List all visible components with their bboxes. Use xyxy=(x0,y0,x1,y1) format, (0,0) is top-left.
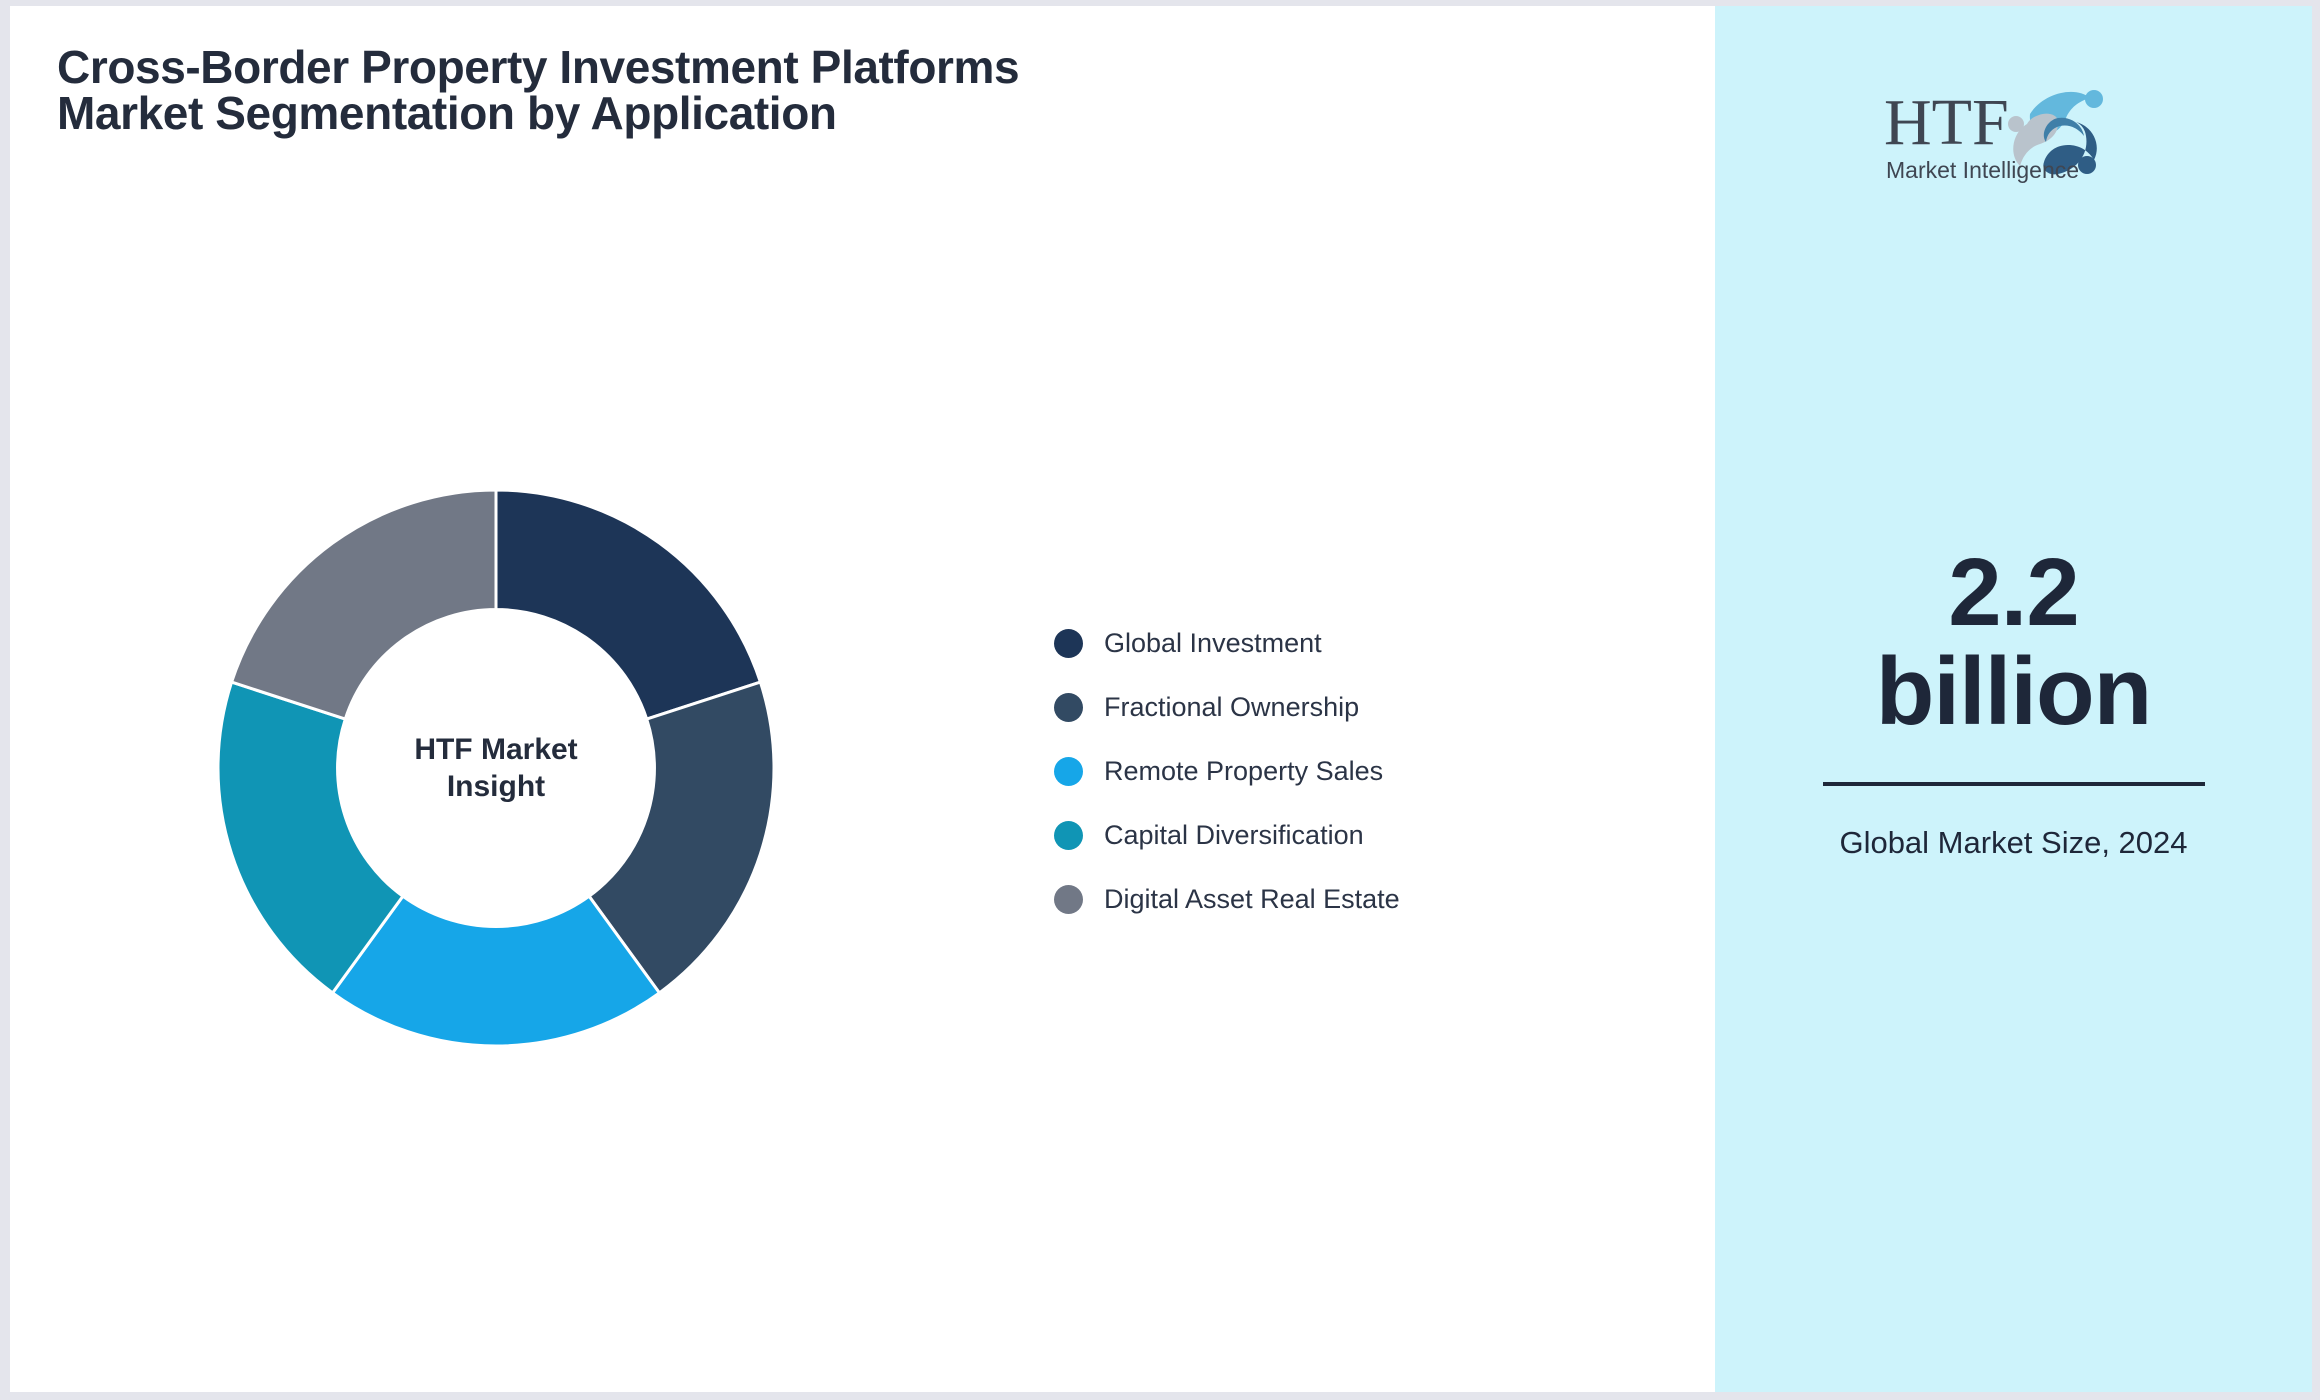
legend-item-label: Remote Property Sales xyxy=(1104,758,1383,785)
chart-legend: Global InvestmentFractional OwnershipRem… xyxy=(1054,628,1400,914)
legend-item[interactable]: Capital Diversification xyxy=(1054,820,1400,850)
main-panel: Cross-Border Property Investment Platfor… xyxy=(10,6,1715,1392)
infographic-card: Cross-Border Property Investment Platfor… xyxy=(10,6,2312,1392)
donut-slices xyxy=(218,490,774,1046)
donut-slice[interactable] xyxy=(232,490,496,719)
legend-swatch-icon xyxy=(1054,629,1083,658)
legend-item[interactable]: Global Investment xyxy=(1054,628,1400,658)
legend-item-label: Capital Diversification xyxy=(1104,822,1364,849)
stat-divider xyxy=(1823,782,2205,786)
infographic-root: Cross-Border Property Investment Platfor… xyxy=(0,0,2320,1400)
legend-swatch-icon xyxy=(1054,757,1083,786)
legend-item[interactable]: Digital Asset Real Estate xyxy=(1054,884,1400,914)
stat-block: 2.2 billion Global Market Size, 2024 xyxy=(1799,544,2229,864)
legend-item[interactable]: Remote Property Sales xyxy=(1054,756,1400,786)
htf-tagline-text: Market Intelligence xyxy=(1886,157,2079,183)
stat-panel: HTF xyxy=(1715,6,2312,1392)
donut-chart-svg xyxy=(206,478,786,1058)
htf-logo-svg: HTF xyxy=(1880,72,2148,184)
page-title: Cross-Border Property Investment Platfor… xyxy=(57,44,1037,136)
legend-item-label: Global Investment xyxy=(1104,630,1322,657)
stat-value: 2.2 billion xyxy=(1799,544,2229,742)
legend-swatch-icon xyxy=(1054,885,1083,914)
donut-chart: HTF Market Insight xyxy=(206,478,786,1058)
legend-item[interactable]: Fractional Ownership xyxy=(1054,692,1400,722)
stat-caption: Global Market Size, 2024 xyxy=(1799,822,2229,864)
legend-item-label: Fractional Ownership xyxy=(1104,694,1359,721)
htf-logo: HTF xyxy=(1880,72,2148,184)
legend-swatch-icon xyxy=(1054,693,1083,722)
htf-wordmark-text: HTF xyxy=(1884,86,2009,159)
legend-item-label: Digital Asset Real Estate xyxy=(1104,886,1400,913)
legend-swatch-icon xyxy=(1054,821,1083,850)
donut-slice[interactable] xyxy=(496,490,760,719)
